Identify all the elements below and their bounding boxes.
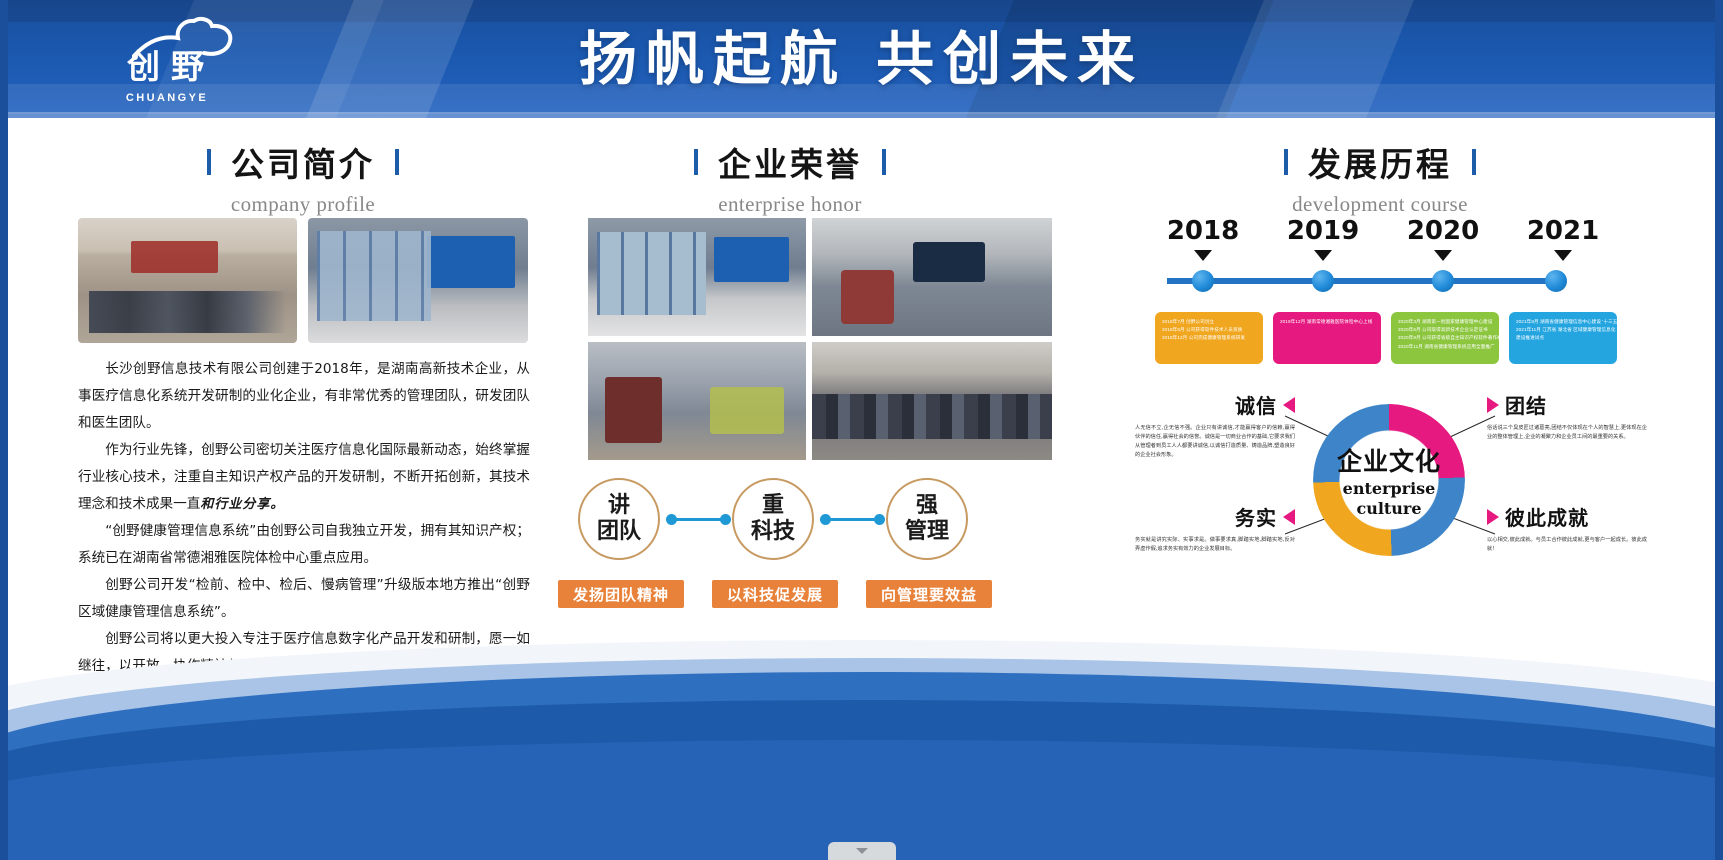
timeline-year-2021: 2021 xyxy=(1515,216,1611,246)
profile-photo-row xyxy=(78,218,528,343)
value-body: 俗话说三个臭皮匠过诸葛亮,团结不仅体现在个人的智慧上,更体现在企业的整体管理上,… xyxy=(1487,424,1647,442)
timeline-node xyxy=(1545,270,1567,292)
footer-wave-graphic xyxy=(0,636,1723,860)
honor-title-row: 企业荣誉 xyxy=(560,138,1020,186)
chevron-down-icon xyxy=(856,848,868,854)
poster-header: 创野 CHUANGYE 扬帆起航 共创未来 xyxy=(0,0,1723,118)
flow-circle-team: 讲团队 xyxy=(578,478,660,560)
honor-title-cn: 企业荣誉 xyxy=(718,138,862,186)
timeline-card-2019: 2019年12月 湖南常德湘雅医院体检中心上线 xyxy=(1273,312,1381,364)
honor-tag-row: 发扬团队精神 以科技促发展 向管理要效益 xyxy=(560,580,1030,608)
section-heading-course: 发展历程 development course xyxy=(1150,138,1610,217)
honor-photo-grid xyxy=(588,218,1048,460)
tick-right-icon xyxy=(882,149,886,175)
timeline-year-2019: 2019 xyxy=(1275,216,1371,246)
honor-title-en: enterprise honor xyxy=(560,192,1020,217)
flow-connector xyxy=(826,518,878,521)
team-group-photo-lobby xyxy=(78,218,297,343)
honor-flow-diagram: 讲团队 重科技 强管理 xyxy=(560,478,1030,568)
award-group-photo xyxy=(812,342,1052,460)
caret-down-icon xyxy=(1194,250,1212,261)
culture-value-mutual-achievement: 彼此成就 以心相交,彼此成就。与员工合作彼此成就,更与客户一起成长。彼此成就! xyxy=(1487,502,1647,554)
flow-connector xyxy=(672,518,724,521)
arrow-left-icon xyxy=(1283,509,1295,525)
culture-center-en1: enterprise xyxy=(1343,479,1436,498)
timeline-card-2021: 2021年8月 湖南省健康管理信息中心建设 '十三五' 2021年11月 江苏省… xyxy=(1509,312,1617,364)
workspace-staff-photo xyxy=(588,342,806,460)
tag-team-spirit: 发扬团队精神 xyxy=(558,580,684,608)
course-title-row: 发展历程 xyxy=(1150,138,1610,186)
timeline-card-line: 2021年11月 江苏省 湖北省 区域健康管理信息化 xyxy=(1516,326,1610,334)
value-title: 务实 xyxy=(1235,502,1277,531)
timeline-node xyxy=(1312,270,1334,292)
logo-pinyin: CHUANGYE xyxy=(92,92,242,104)
culture-value-unity: 团结 俗话说三个臭皮匠过诸葛亮,团结不仅体现在个人的智慧上,更体现在企业的整体管… xyxy=(1487,390,1647,442)
profile-title-row: 公司简介 xyxy=(78,138,528,186)
culture-center-cn: 企业文化 xyxy=(1337,442,1441,478)
left-edge-bar xyxy=(0,0,8,860)
profile-title-cn: 公司简介 xyxy=(231,138,375,186)
meeting-presentation-photo xyxy=(812,218,1052,336)
flow-circle-line2: 科技 xyxy=(751,519,795,544)
flow-circle-line1: 重 xyxy=(762,493,784,518)
caret-down-icon xyxy=(1434,250,1452,261)
arrow-left-icon xyxy=(1283,397,1295,413)
tag-management-benefit: 向管理要效益 xyxy=(866,580,992,608)
timeline-card-line: 2020年11月 湖南省健康管理系统应用全面推广 xyxy=(1398,343,1492,351)
tag-tech-development: 以科技促发展 xyxy=(712,580,838,608)
card-notch xyxy=(1551,312,1573,314)
timeline-card-line: 2018年8月 公司获得软件技术人员资质 xyxy=(1162,326,1256,334)
card-notch xyxy=(1433,312,1455,314)
culture-center-label: 企业文化 enterprise culture xyxy=(1313,404,1465,556)
culture-value-pragmatism: 务实 务实就是讲究实际、实事求是。做事要求真,脚踏实地,脚踏实地,反对弄虚作假,… xyxy=(1135,502,1295,554)
timeline-node xyxy=(1192,270,1214,292)
timeline-card-2018: 2018年7月 创野公司创立 2018年8月 公司获得软件技术人员资质 2018… xyxy=(1155,312,1263,364)
value-body: 人无信不立,企无信不强。企业只有讲诚信,才能赢得客户的信赖,赢得伙伴的信任,赢得… xyxy=(1135,424,1295,460)
profile-body-text: 长沙创野信息技术有限公司创建于2018年，是湖南高新技术企业，从事医疗信息化系统… xyxy=(78,356,530,680)
timeline-year-2020: 2020 xyxy=(1395,216,1491,246)
value-head: 团结 xyxy=(1487,390,1647,419)
office-glass-reception xyxy=(308,218,528,343)
profile-title-en: company profile xyxy=(78,192,528,217)
value-body: 以心相交,彼此成就。与员工合作彼此成就,更与客户一起成长。彼此成就! xyxy=(1487,536,1647,554)
timeline-card-line: 建设推进试点 xyxy=(1516,334,1610,342)
scroll-down-tab[interactable] xyxy=(828,842,896,860)
flow-dot xyxy=(720,514,731,525)
office-reception-photo xyxy=(588,218,806,336)
timeline-card-line: 2020年9月 公司获得省级自主知识产权软件著作权 xyxy=(1398,334,1492,342)
timeline-axis xyxy=(1167,278,1555,284)
tick-left-icon xyxy=(694,149,698,175)
timeline: 2018 2018年7月 创野公司创立 2018年8月 公司获得软件技术人员资质… xyxy=(1155,216,1675,366)
timeline-card-line: 2020年6月 公司取得高新技术企业认定证书 xyxy=(1398,326,1492,334)
card-notch xyxy=(1197,312,1219,314)
tick-right-icon xyxy=(1472,149,1476,175)
culture-diagram: 企业文化 enterprise culture 诚信 人无信不立,企无信不强。企… xyxy=(1135,386,1655,586)
profile-handwritten-note: 和行业分享。 xyxy=(200,497,284,512)
caret-down-icon xyxy=(1554,250,1572,261)
flow-circle-line2: 团队 xyxy=(597,519,641,544)
profile-paragraph: 长沙创野信息技术有限公司创建于2018年，是湖南高新技术企业，从事医疗信息化系统… xyxy=(78,356,530,437)
flow-dot xyxy=(874,514,885,525)
section-heading-honor: 企业荣誉 enterprise honor xyxy=(560,138,1020,217)
profile-paragraph: “创野健康管理信息系统”由创野公司自我独立开发，拥有其知识产权；系统已在湖南省常… xyxy=(78,518,530,572)
value-head: 务实 xyxy=(1135,502,1295,531)
poster-body: 公司简介 company profile 长沙创野信息技术有限公司创建于2018… xyxy=(0,118,1723,678)
arrow-right-icon xyxy=(1487,397,1499,413)
timeline-card-2020: 2020年3月 湖南第一批国家健康管理中心建设 2020年6月 公司取得高新技术… xyxy=(1391,312,1499,364)
course-title-cn: 发展历程 xyxy=(1308,138,1452,186)
section-heading-profile: 公司简介 company profile xyxy=(78,138,528,217)
tick-left-icon xyxy=(207,149,211,175)
caret-down-icon xyxy=(1314,250,1332,261)
timeline-card-line: 2019年12月 湖南常德湘雅医院体检中心上线 xyxy=(1280,318,1374,326)
right-edge-bar xyxy=(1715,0,1723,860)
profile-paragraph-text: 作为行业先锋，创野公司密切关注医疗信息化国际最新动态，始终掌握行业核心技术，注重… xyxy=(78,442,530,512)
culture-center-en2: culture xyxy=(1356,499,1421,518)
timeline-card-line: 2021年8月 湖南省健康管理信息中心建设 '十三五' xyxy=(1516,318,1610,326)
timeline-card-line: 2018年7月 创野公司创立 xyxy=(1162,318,1256,326)
value-title: 彼此成就 xyxy=(1505,502,1589,531)
timeline-node xyxy=(1432,270,1454,292)
value-title: 诚信 xyxy=(1235,390,1277,419)
arrow-right-icon xyxy=(1487,509,1499,525)
value-title: 团结 xyxy=(1505,390,1547,419)
tick-left-icon xyxy=(1284,149,1288,175)
timeline-card-line: 2018年12月 公司完成健康管理系统研发 xyxy=(1162,334,1256,342)
flow-circle-line1: 讲 xyxy=(608,493,630,518)
flow-circle-management: 强管理 xyxy=(886,478,968,560)
poster-canvas: 创野 CHUANGYE 扬帆起航 共创未来 公司简介 company profi… xyxy=(0,0,1723,860)
card-notch xyxy=(1315,312,1337,314)
flow-circle-line1: 强 xyxy=(916,493,938,518)
culture-value-integrity: 诚信 人无信不立,企无信不强。企业只有讲诚信,才能赢得客户的信赖,赢得伙伴的信任… xyxy=(1135,390,1295,460)
profile-paragraph: 创野公司开发“检前、检中、检后、慢病管理”升级版本地方推出“创野区域健康管理信息… xyxy=(78,572,530,626)
tick-right-icon xyxy=(395,149,399,175)
value-head: 诚信 xyxy=(1135,390,1295,419)
value-head: 彼此成就 xyxy=(1487,502,1647,531)
value-body: 务实就是讲究实际、实事求是。做事要求真,脚踏实地,脚踏实地,反对弄虚作假,追求务… xyxy=(1135,536,1295,554)
course-title-en: development course xyxy=(1150,192,1610,217)
poster-headline: 扬帆起航 共创未来 xyxy=(0,26,1723,92)
timeline-year-2018: 2018 xyxy=(1155,216,1251,246)
flow-circle-line2: 管理 xyxy=(905,519,949,544)
timeline-card-line: 2020年3月 湖南第一批国家健康管理中心建设 xyxy=(1398,318,1492,326)
flow-circle-tech: 重科技 xyxy=(732,478,814,560)
profile-paragraph: 作为行业先锋，创野公司密切关注医疗信息化国际最新动态，始终掌握行业核心技术，注重… xyxy=(78,437,530,518)
